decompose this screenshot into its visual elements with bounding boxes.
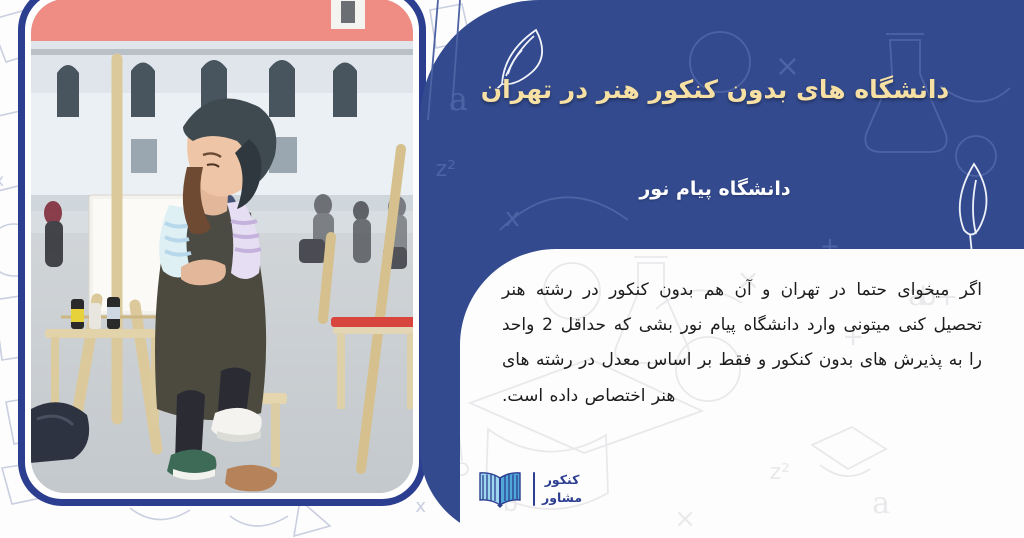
student-painting-photo [31, 0, 413, 493]
description-text: اگر میخوای حتما در تهران و آن هم بدون کن… [502, 273, 982, 414]
info-card: a x +b × × × + a +b z² a [420, 0, 1024, 538]
banner-root: +b x a x [0, 0, 1024, 538]
svg-text:×: × [674, 504, 696, 534]
quill-feather-icon-right [950, 160, 998, 256]
description-panel: × + a +b z² a b × اگر میخوای حتما در تهر… [460, 249, 1024, 538]
logo-line-2: مشاور [542, 489, 582, 507]
svg-text:x: x [0, 171, 4, 191]
logo-line-1: کنکور [545, 471, 580, 489]
open-book-icon [474, 470, 526, 508]
photo-frame [18, 0, 426, 506]
svg-text:z²: z² [770, 460, 790, 485]
page-title: دانشگاه های بدون کنکور هنر در تهران [450, 74, 980, 105]
logo-divider [533, 472, 535, 506]
logo-wordmark: کنکور مشاور [542, 471, 582, 507]
svg-text:a: a [872, 486, 890, 521]
page-subtitle: دانشگاه پیام نور [450, 178, 980, 200]
brand-logo[interactable]: کنکور مشاور [474, 470, 582, 508]
